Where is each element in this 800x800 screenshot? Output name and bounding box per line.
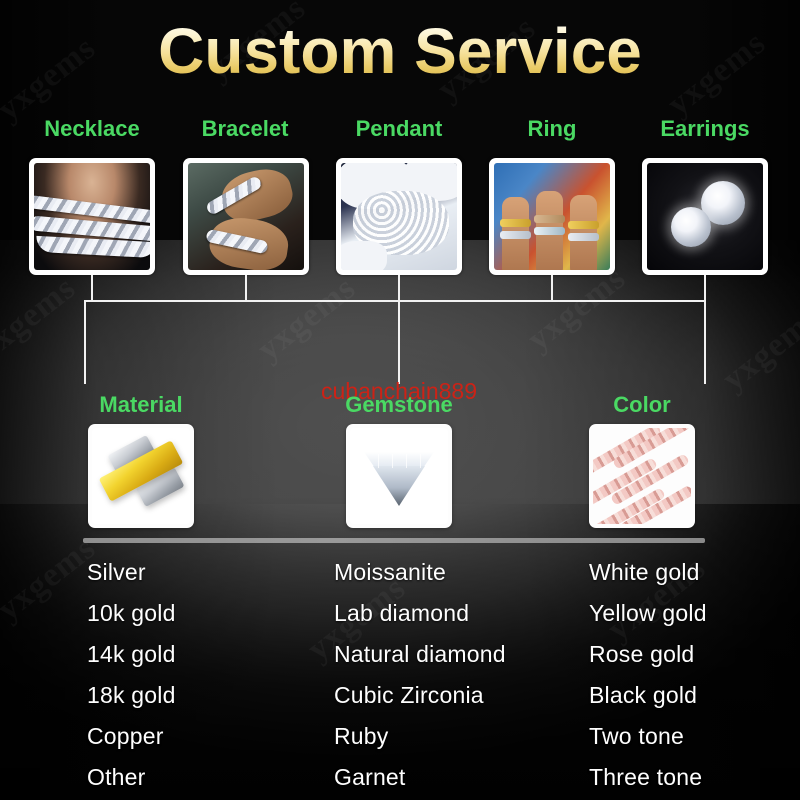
- pendant-illustration: [341, 163, 457, 270]
- list-item[interactable]: Copper: [87, 716, 176, 757]
- connector-horizontal-trunk: [84, 300, 706, 302]
- page-title: Custom Service: [0, 18, 800, 85]
- diamond-photo: [350, 428, 448, 524]
- attribute-label-gemstone: Gemstone: [345, 392, 453, 418]
- ring-photo: [494, 163, 610, 270]
- option-list-gemstone: Moissanite Lab diamond Natural diamond C…: [334, 552, 506, 798]
- list-item[interactable]: Moissanite: [334, 552, 506, 593]
- list-item[interactable]: Cubic Zirconia: [334, 675, 506, 716]
- list-item[interactable]: 14k gold: [87, 634, 176, 675]
- attribute-label-material: Material: [99, 392, 182, 418]
- category-label-row: Necklace Bracelet Pendant Ring Earrings: [0, 116, 800, 146]
- category-image-necklace[interactable]: [29, 158, 155, 275]
- attribute-image-material[interactable]: [88, 424, 194, 528]
- category-label-necklace: Necklace: [44, 116, 139, 142]
- necklace-illustration: [34, 163, 150, 270]
- connector-ring-down: [551, 275, 553, 302]
- necklace-photo: [34, 163, 150, 270]
- section-divider: [83, 538, 705, 543]
- color-illustration: [593, 428, 691, 524]
- category-image-pendant[interactable]: [336, 158, 462, 275]
- option-list-color: White gold Yellow gold Rose gold Black g…: [589, 552, 707, 798]
- material-illustration: [92, 428, 190, 524]
- category-image-bracelet[interactable]: [183, 158, 309, 275]
- bracelet-illustration: [188, 163, 304, 270]
- category-label-ring: Ring: [528, 116, 577, 142]
- pendant-photo: [341, 163, 457, 270]
- list-item[interactable]: Ruby: [334, 716, 506, 757]
- list-item[interactable]: Three tone: [589, 757, 707, 798]
- category-image-earrings[interactable]: [642, 158, 768, 275]
- connector-bracelet-down: [245, 275, 247, 302]
- list-item[interactable]: Garnet: [334, 757, 506, 798]
- custom-service-infographic: yxgems yxgems yxgems yxgems yxgems yxgem…: [0, 0, 800, 800]
- connector-pendant-down: [398, 275, 400, 302]
- list-item[interactable]: Natural diamond: [334, 634, 506, 675]
- list-item[interactable]: Rose gold: [589, 634, 707, 675]
- list-item[interactable]: Two tone: [589, 716, 707, 757]
- connector-earrings-down: [704, 275, 706, 302]
- connector-gemstone-branch: [398, 300, 400, 384]
- category-label-pendant: Pendant: [356, 116, 443, 142]
- category-label-earrings: Earrings: [660, 116, 749, 142]
- connector-color-branch: [704, 300, 706, 384]
- list-item[interactable]: Yellow gold: [589, 593, 707, 634]
- connector-necklace-down: [91, 275, 93, 302]
- list-item[interactable]: Black gold: [589, 675, 707, 716]
- attribute-label-color: Color: [613, 392, 670, 418]
- earrings-photo: [647, 163, 763, 270]
- earrings-illustration: [647, 163, 763, 270]
- list-item[interactable]: 10k gold: [87, 593, 176, 634]
- option-list-material: Silver 10k gold 14k gold 18k gold Copper…: [87, 552, 176, 798]
- gold-silver-bars-photo: [92, 428, 190, 524]
- list-item[interactable]: Other: [87, 757, 176, 798]
- category-label-bracelet: Bracelet: [202, 116, 289, 142]
- list-item[interactable]: 18k gold: [87, 675, 176, 716]
- bracelet-photo: [188, 163, 304, 270]
- ring-illustration: [494, 163, 610, 270]
- list-item[interactable]: Lab diamond: [334, 593, 506, 634]
- gemstone-illustration: [350, 428, 448, 524]
- attribute-image-color[interactable]: [589, 424, 695, 528]
- rose-gold-chains-photo: [593, 428, 691, 524]
- list-item[interactable]: Silver: [87, 552, 176, 593]
- connector-material-branch: [84, 300, 86, 384]
- category-image-ring[interactable]: [489, 158, 615, 275]
- list-item[interactable]: White gold: [589, 552, 707, 593]
- attribute-image-gemstone[interactable]: [346, 424, 452, 528]
